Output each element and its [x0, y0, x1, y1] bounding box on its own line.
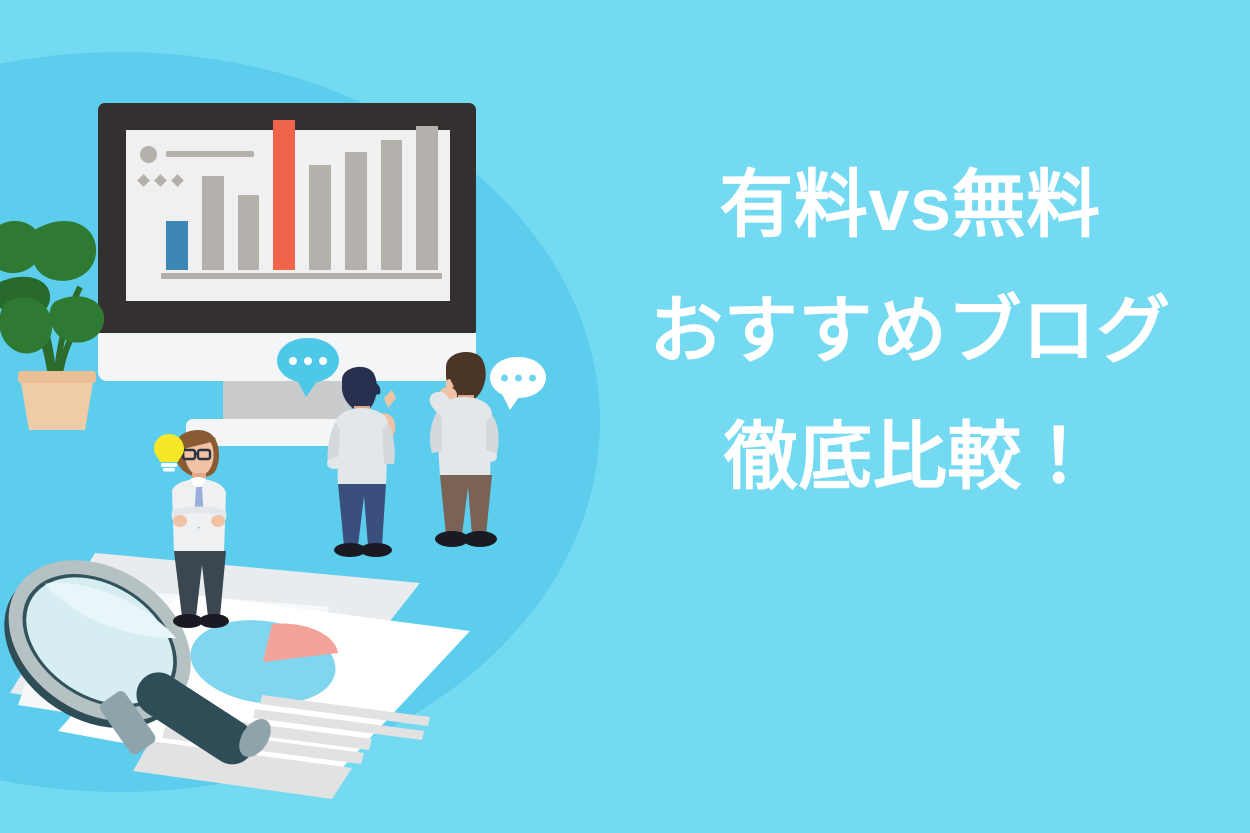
diamond-icon [137, 174, 150, 187]
diamond-icon [154, 174, 167, 187]
lightbulb-idea-icon [152, 432, 186, 474]
banner-root: 有料vs無料 おすすめブログ 徹底比較！ [0, 0, 1250, 833]
bar-chart-bar [381, 140, 403, 271]
bar-chart-bar [345, 152, 367, 271]
headline-line-3: 徹底比較！ [600, 420, 1220, 494]
man-pointing-navy-trousers [312, 360, 412, 560]
bar-chart-bar [238, 195, 260, 270]
bar-chart-bar [416, 126, 438, 270]
bubble-dot [304, 357, 312, 365]
man-thinking-brown-trousers [412, 345, 517, 550]
bubble-dot [529, 374, 536, 381]
bar-chart [166, 124, 438, 279]
bubble-dot [289, 357, 297, 365]
potted-plant [0, 195, 122, 430]
bar-chart-axis [161, 273, 442, 279]
headline-line-2: おすすめブログ [600, 294, 1220, 368]
screen-avatar-dot-icon [140, 146, 157, 163]
desktop-monitor [98, 103, 476, 333]
bar-chart-bars [166, 120, 438, 270]
bar-chart-bar [309, 165, 331, 270]
bar-chart-bar [166, 221, 188, 271]
headline-line-1: 有料vs無料 [600, 168, 1220, 242]
bar-chart-bar [202, 176, 224, 271]
monitor-screen [126, 130, 450, 301]
headline: 有料vs無料 おすすめブログ 徹底比較！ [600, 168, 1220, 494]
bar-chart-bar [273, 120, 295, 270]
